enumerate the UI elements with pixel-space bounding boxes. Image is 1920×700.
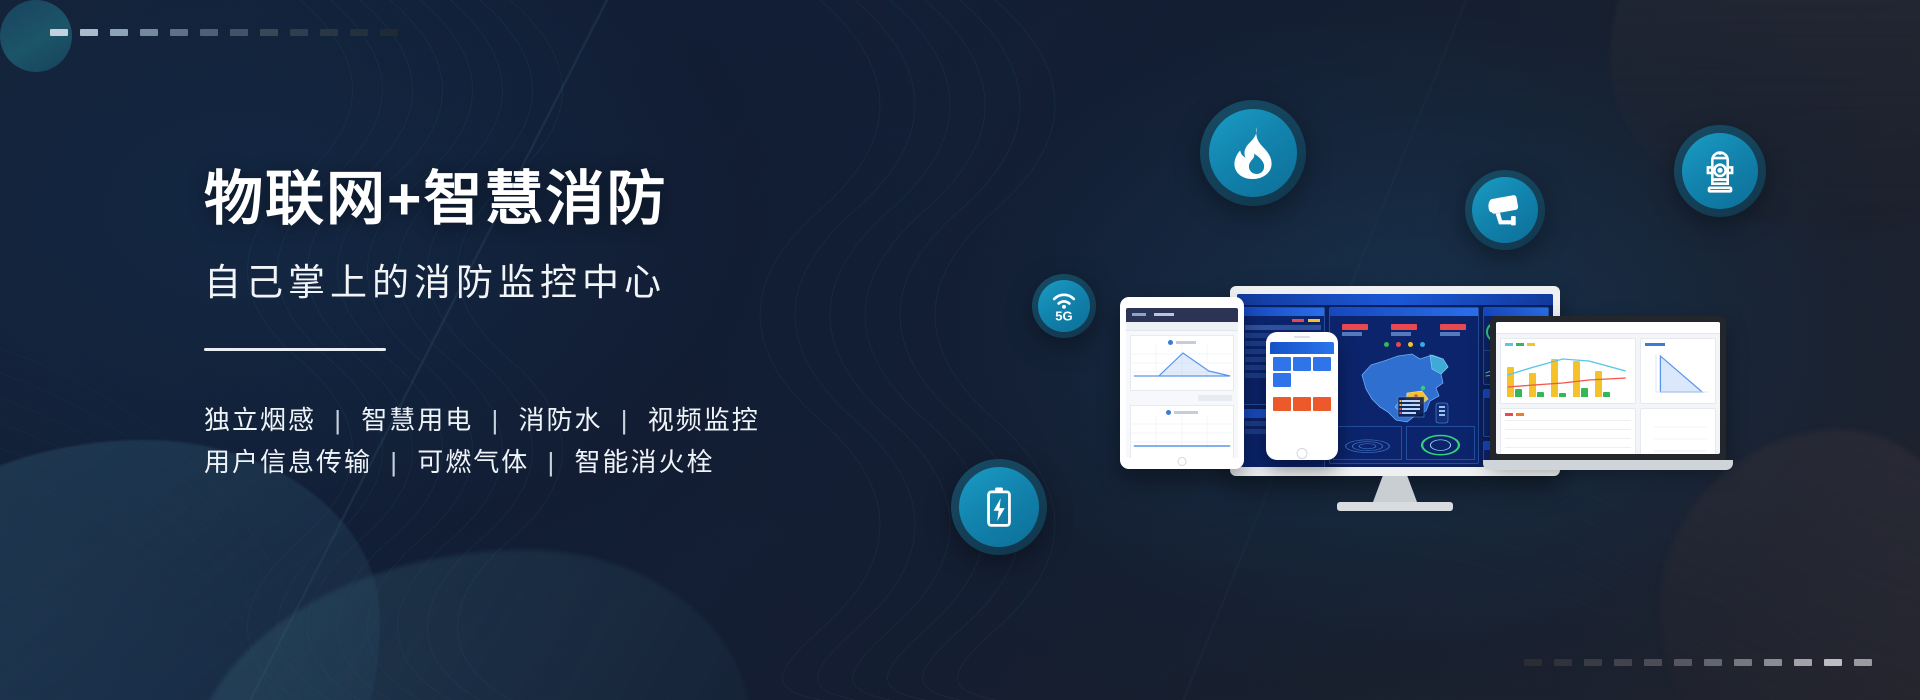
feature-line-2: 用户信息传输 | 可燃气体 | 智能消火栓 [204,441,844,483]
decor-blob-top-right [1610,0,1920,230]
kpi-item [1342,324,1368,336]
dashboard-topbar [1237,294,1553,305]
hydrant-icon [1674,125,1766,217]
tablet [1120,297,1244,469]
dashboard-kpis [1330,324,1478,336]
china-map [1330,350,1478,423]
feature-item: 智慧用电 [361,405,473,435]
phone-alert-tile [1313,397,1331,411]
hero-banner: 物联网+智慧消防 自己掌上的消防监控中心 独立烟感 | 智慧用电 | 消防水 |… [0,0,1920,700]
laptop-chart-bars [1500,338,1636,404]
phone-body [1266,332,1338,460]
monitor-base [1337,502,1453,511]
feature-separator: | [483,405,510,435]
phone-tile [1273,357,1291,371]
phone-tile [1293,357,1311,371]
feature-item: 智能消火栓 [575,447,715,477]
feature-list: 独立烟感 | 智慧用电 | 消防水 | 视频监控 用户信息传输 | 可燃气体 |… [204,399,844,483]
decor-dashes-bottom-right [1524,659,1872,666]
dashboard-radar-left [1333,426,1402,460]
laptop-lid [1490,316,1726,460]
tablet-home-button [1178,457,1187,466]
phone-alert-tile [1273,397,1291,411]
decor-blob-bottom-left-2 [190,550,750,700]
device-mockups [1120,288,1740,568]
feature-separator: | [612,405,639,435]
panel-header [1484,308,1548,316]
feature-line-1: 独立烟感 | 智慧用电 | 消防水 | 视频监控 [204,399,844,441]
laptop-screen [1496,322,1720,454]
feature-separator: | [381,447,408,477]
title-divider [204,348,386,351]
tablet-screen [1126,308,1238,458]
phone-screen [1270,342,1334,448]
feature-item: 可燃气体 [417,447,529,477]
tablet-body [1120,297,1244,469]
panel-header [1330,308,1478,316]
tablet-chart-area [1130,335,1234,391]
tablet-chart-flat [1130,405,1234,458]
monitor-neck [1373,476,1417,502]
dashboard-center-column [1329,307,1479,464]
feature-item: 视频监控 [648,405,760,435]
laptop-chart-misc [1640,408,1716,454]
phone-home-button [1297,448,1308,459]
laptop-base [1483,460,1733,470]
feature-item: 用户信息传输 [204,447,372,477]
dashboard-radar-right [1406,426,1475,460]
phone-tile-grid [1270,354,1334,390]
laptop [1490,316,1740,470]
battery-icon [951,459,1047,555]
hero-copy: 物联网+智慧消防 自己掌上的消防监控中心 独立烟感 | 智慧用电 | 消防水 |… [204,168,844,483]
phone-tile [1273,373,1291,387]
phone-speaker [1294,336,1310,338]
phone-alert-grid [1270,394,1334,414]
tablet-header-bar [1126,308,1238,322]
kpi-item [1440,324,1466,336]
laptop-header-bar [1496,322,1720,334]
feature-item: 消防水 [519,405,603,435]
laptop-table [1500,408,1636,454]
dashboard-panel-map [1329,307,1479,464]
feature-separator: | [539,447,566,477]
phone-header-bar [1270,342,1334,354]
5g-icon: 5G [1032,274,1096,338]
decor-dashes-top-left [50,29,398,36]
flame-icon [1200,100,1306,206]
camera-icon [1465,170,1545,250]
decor-circle-top-left [0,0,72,72]
kpi-item [1391,324,1417,336]
panel-header [1242,308,1324,316]
laptop-chart-decline [1640,338,1716,404]
phone-tile [1313,357,1331,371]
feature-item: 独立烟感 [204,405,316,435]
page-subtitle: 自己掌上的消防监控中心 [204,252,844,306]
feature-separator: | [325,405,352,435]
page-title: 物联网+智慧消防 [204,168,844,232]
smartphone [1266,332,1338,460]
phone-alert-tile [1293,397,1311,411]
5g-label: 5G [1055,308,1072,322]
